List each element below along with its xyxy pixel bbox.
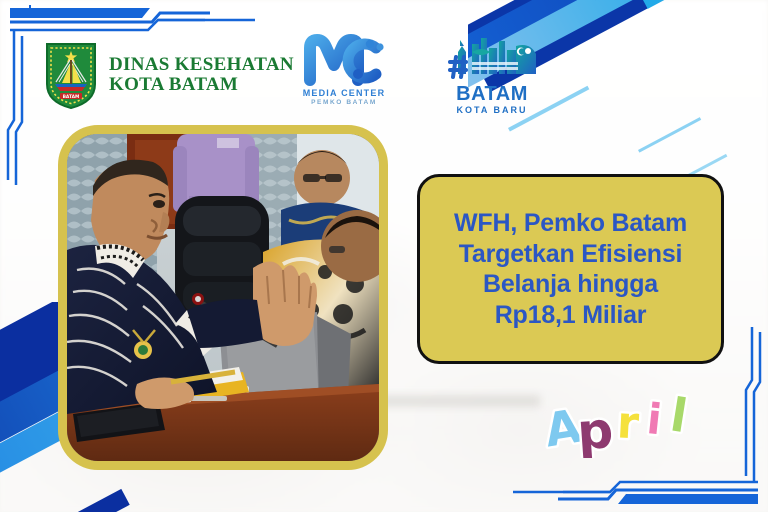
logo-dinas-kesehatan: BATAM DINAS KESEHATAN KOTA BATAM bbox=[43, 40, 294, 110]
month-badge-april: A p r i l bbox=[543, 388, 713, 458]
logo-row: BATAM DINAS KESEHATAN KOTA BATAM bbox=[0, 28, 768, 123]
media-center-line-2: PEMKO BATAM bbox=[288, 99, 400, 106]
batam-skyline-icon bbox=[432, 32, 552, 84]
svg-text:r: r bbox=[616, 397, 641, 449]
headline-line-2: Targetkan Efisiensi bbox=[459, 240, 683, 268]
dinkes-line-1: DINAS KESEHATAN bbox=[109, 55, 294, 75]
svg-text:BATAM: BATAM bbox=[63, 94, 80, 100]
poster-canvas: BATAM DINAS KESEHATAN KOTA BATAM bbox=[0, 0, 768, 512]
svg-text:i: i bbox=[645, 394, 664, 444]
headline-box: WFH, Pemko Batam Targetkan Efisiensi Bel… bbox=[417, 174, 724, 364]
headline-line-4: Rp18,1 Miliar bbox=[495, 301, 647, 329]
meeting-photo bbox=[67, 134, 379, 461]
headline-line-1: WFH, Pemko Batam bbox=[454, 209, 687, 237]
media-center-line-1: MEDIA CENTER bbox=[288, 88, 400, 98]
news-photo-card bbox=[58, 125, 388, 470]
logo-media-center: MEDIA CENTER PEMKO BATAM bbox=[288, 34, 400, 106]
batam-logo-line-2: KOTA BARU bbox=[432, 105, 552, 115]
headline-text: WFH, Pemko Batam Targetkan Efisiensi Bel… bbox=[454, 208, 687, 330]
headline-line-3: Belanja hingga bbox=[483, 270, 658, 298]
media-center-monogram-icon bbox=[288, 34, 400, 86]
batam-coat-of-arms-icon: BATAM bbox=[43, 40, 99, 110]
dinkes-line-2: KOTA BATAM bbox=[109, 75, 294, 95]
logo-batam-kota-baru: BATAM KOTA BARU bbox=[432, 32, 552, 115]
svg-text:p: p bbox=[575, 401, 615, 458]
batam-logo-line-1: BATAM bbox=[432, 84, 552, 104]
svg-text:l: l bbox=[667, 388, 691, 443]
